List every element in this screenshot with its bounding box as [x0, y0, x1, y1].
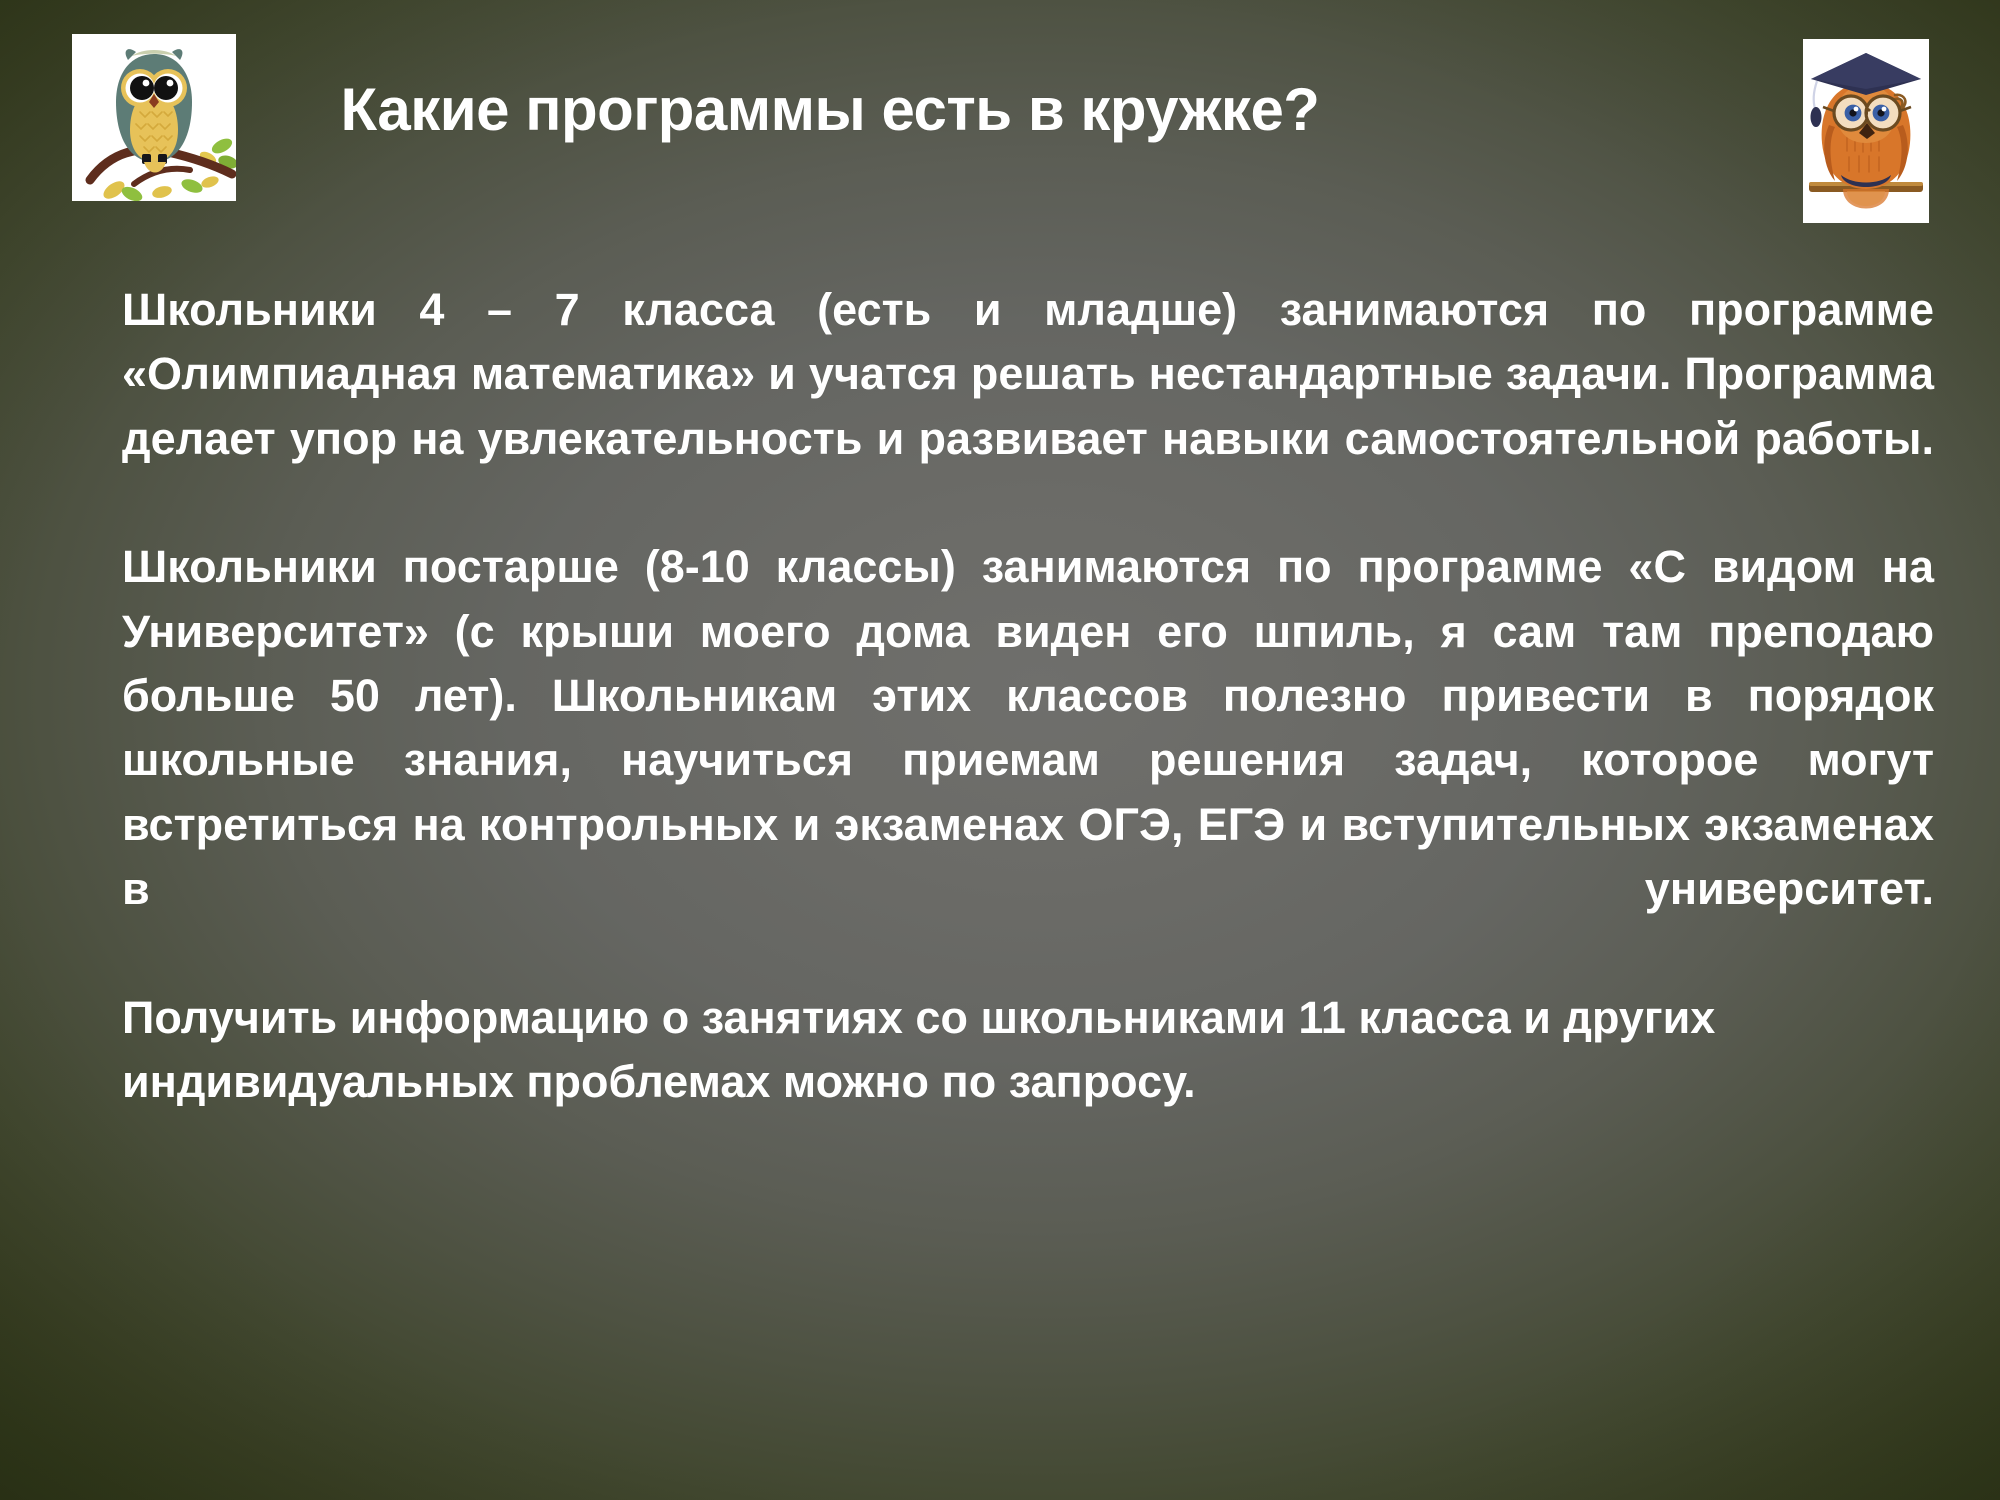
paragraph-3: Получить информацию о занятиях со школьн… [122, 986, 1934, 1115]
slide-canvas: Какие программы есть в кружке? [0, 0, 2000, 1500]
right-owl-image [1803, 39, 1929, 223]
left-owl-image [72, 34, 236, 201]
graduate-owl-icon [1803, 39, 1929, 223]
paragraph-1: Школьники 4 – 7 класса (есть и младше) з… [122, 278, 1934, 535]
owl-on-branch-icon [72, 34, 236, 201]
slide-body-text: Школьники 4 – 7 класса (есть и младше) з… [122, 278, 1934, 1114]
slide-title: Какие программы есть в кружке? [270, 78, 1390, 141]
paragraph-2: Школьники постарше (8-10 классы) занимаю… [122, 535, 1934, 985]
